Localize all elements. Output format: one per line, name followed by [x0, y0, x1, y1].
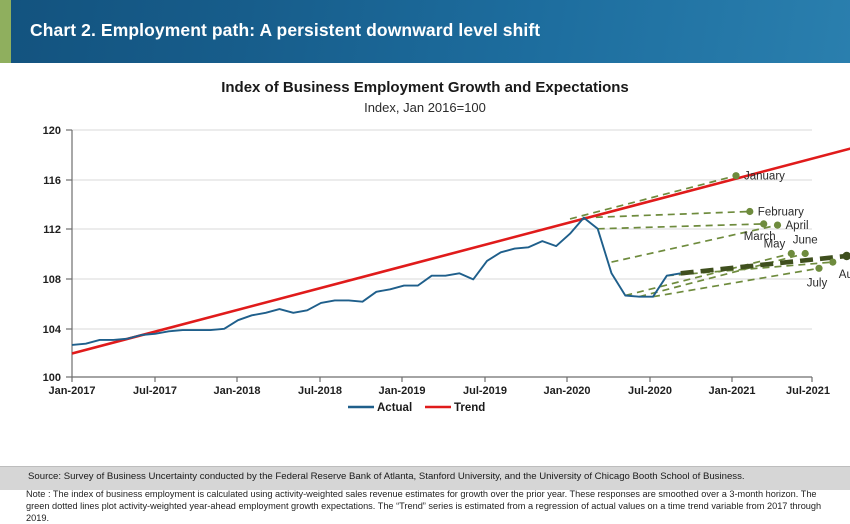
end-marker-june — [802, 250, 809, 257]
x-tick-marks — [72, 377, 812, 382]
x-tick-1: Jul-2017 — [133, 385, 177, 397]
end-marker-april — [774, 222, 781, 229]
end-marker-january — [732, 172, 739, 179]
month-label-april: April — [786, 220, 809, 232]
y-tick-120: 120 — [43, 125, 61, 137]
expectation-line-march — [598, 224, 764, 229]
y-axis-labels: 120 116 112 108 104 100 — [43, 125, 62, 384]
page-title: Chart 2. Employment path: A persistent d… — [30, 20, 540, 41]
x-tick-0: Jan-2017 — [48, 385, 95, 397]
end-marker-march — [760, 220, 767, 227]
expectation-line-may — [625, 254, 791, 296]
source-text: Source: Survey of Business Uncertainty c… — [28, 471, 745, 482]
month-label-june: June — [793, 235, 818, 247]
x-tick-3: Jul-2018 — [298, 385, 342, 397]
chart-legend: Actual Trend — [348, 402, 485, 414]
end-marker-may — [788, 250, 795, 257]
x-tick-2: Jan-2018 — [213, 385, 260, 397]
axis-lines — [72, 130, 812, 377]
legend-label-actual: Actual — [377, 402, 412, 414]
y-tick-116: 116 — [43, 175, 61, 187]
chart-card: Index of Business Employment Growth and … — [0, 63, 850, 466]
series-september-bold — [681, 256, 847, 273]
y-tick-112: 112 — [43, 224, 61, 236]
header-banner: Chart 2. Employment path: A persistent d… — [0, 0, 850, 63]
chart-note: Note : The index of business employment … — [26, 488, 826, 524]
end-marker-august — [829, 259, 836, 266]
end-marker-september — [843, 252, 850, 260]
y-tick-100: 100 — [43, 372, 61, 384]
expectation-line-june — [639, 254, 805, 297]
series-actual-line — [72, 218, 681, 345]
chart-plot: 120 116 112 108 104 100 Jan-2017 Jul-201… — [0, 63, 850, 466]
month-label-july: July — [807, 277, 828, 289]
legend-label-trend: Trend — [454, 402, 485, 414]
month-label-may: May — [764, 239, 786, 251]
month-label-august: August — [839, 269, 850, 281]
x-tick-5: Jul-2019 — [463, 385, 507, 397]
x-tick-8: Jan-2021 — [708, 385, 755, 397]
end-marker-july — [815, 265, 822, 272]
series-trend-line — [72, 139, 850, 354]
x-tick-9: Jul-2021 — [786, 385, 830, 397]
end-marker-february — [746, 208, 753, 215]
month-label-january: January — [744, 171, 785, 183]
x-tick-7: Jul-2020 — [628, 385, 672, 397]
expectation-line-september — [681, 256, 847, 273]
expectation-line-january — [570, 176, 736, 219]
x-tick-4: Jan-2019 — [378, 385, 425, 397]
y-tick-104: 104 — [43, 324, 62, 336]
month-label-february: February — [758, 207, 804, 219]
y-tick-marks — [66, 130, 72, 377]
y-tick-108: 108 — [43, 274, 61, 286]
x-tick-6: Jan-2020 — [543, 385, 590, 397]
gridlines — [72, 130, 812, 329]
x-axis-labels: Jan-2017 Jul-2017 Jan-2018 Jul-2018 Jan-… — [48, 385, 830, 397]
